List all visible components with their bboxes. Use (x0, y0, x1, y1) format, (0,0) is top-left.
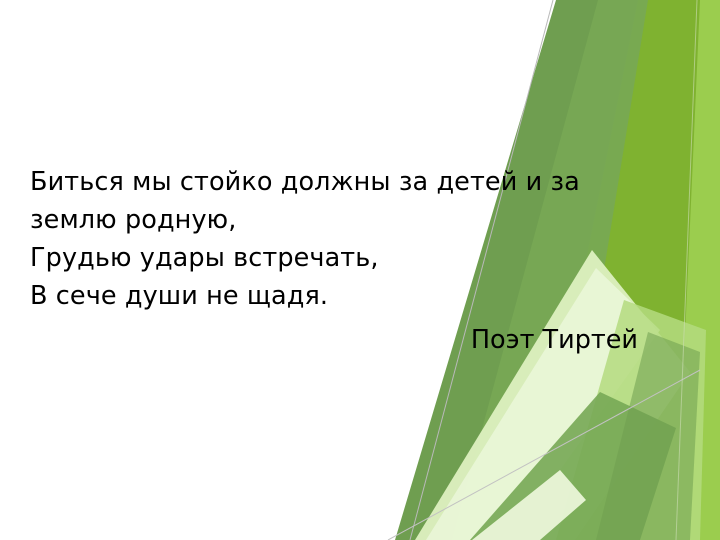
facet-shape-lower-mid-green (470, 392, 676, 540)
quote-line-1: Биться мы стойко должны за детей и за (30, 163, 642, 201)
facet-hairline-upper-right (676, 0, 697, 540)
facet-shape-light-lime-sliver (676, 0, 720, 540)
quote-text-block: Биться мы стойко должны за детей и за зе… (30, 163, 642, 359)
quote-line-4: В сече души не щадя. (30, 277, 642, 315)
quote-line-3: Грудью удары встречать, (30, 239, 642, 277)
quote-line-2: землю родную, (30, 201, 642, 239)
facet-shape-pale-tail (472, 470, 586, 540)
facet-shape-bottom-accent (596, 332, 700, 540)
slide-canvas: Биться мы стойко должны за детей и за зе… (0, 0, 720, 540)
quote-attribution: Поэт Тиртей (30, 321, 642, 359)
facet-hairline-diagonal-lower (388, 370, 700, 540)
